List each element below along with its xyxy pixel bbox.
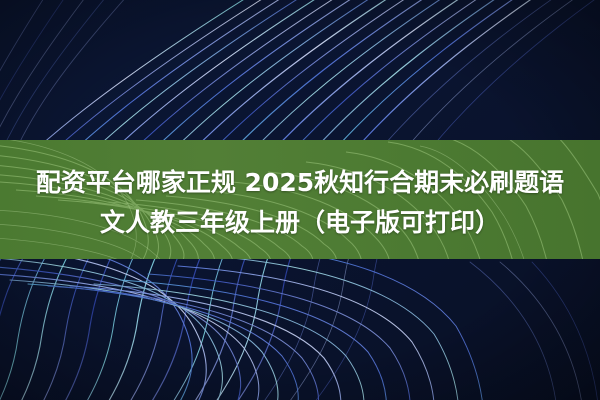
promo-banner: 配资平台哪家正规 2025秋知行合期末必刷题语 文人教三年级上册（电子版可打印） (0, 0, 600, 400)
green-title-band: 配资平台哪家正规 2025秋知行合期末必刷题语 文人教三年级上册（电子版可打印） (0, 140, 600, 259)
headline-line-2: 文人教三年级上册（电子版可打印） (10, 203, 590, 243)
page-title: 配资平台哪家正规 2025秋知行合期末必刷题语 文人教三年级上册（电子版可打印） (0, 163, 600, 243)
headline-line-1: 配资平台哪家正规 2025秋知行合期末必刷题语 (10, 163, 590, 203)
